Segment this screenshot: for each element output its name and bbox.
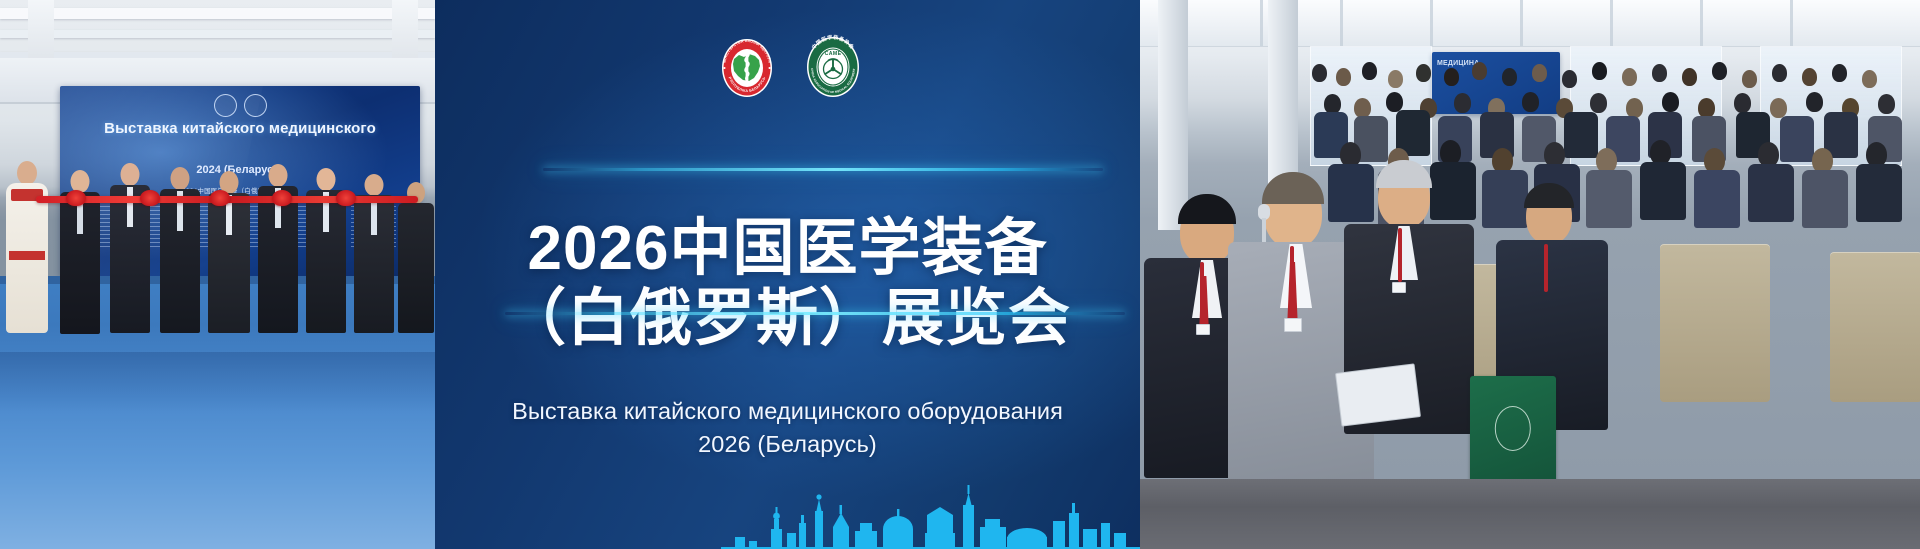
subtitle-line-2: 2026 (Беларусь): [435, 428, 1140, 461]
came-association-icon: 中国医学装备协会 CHINA ASSOCIATION OF MEDICAL EQ…: [799, 28, 867, 102]
person: [304, 160, 348, 330]
person: [352, 164, 396, 330]
person: [396, 170, 435, 330]
stage-carpet: [0, 352, 435, 412]
emblem-icon: [244, 94, 267, 117]
person: [4, 155, 50, 330]
person: [256, 158, 300, 330]
accent-glow-line-top: [543, 168, 1103, 171]
center-title-panel: МІНІСТЭРСТВА АХОВЫ ЗДАРОЎЯ РЭСПУБЛІКА БЕ…: [435, 0, 1140, 549]
accent-glow-line-bottom: [505, 312, 1125, 315]
minsk-skyline-silhouette-icon: [435, 471, 1140, 549]
auditorium-chair: [1830, 252, 1920, 402]
exhibition-banner: Выставка китайского медицинского 2024 (Б…: [0, 0, 1920, 549]
lanyard: [1398, 228, 1402, 282]
auditorium-chair: [1660, 244, 1770, 402]
lanyard: [1544, 244, 1548, 292]
page-title: 2026中国医学装备 （白俄罗斯）展览会: [435, 214, 1140, 354]
person: [158, 160, 202, 330]
belarus-ministry-of-health-icon: МІНІСТЭРСТВА АХОВЫ ЗДАРОЎЯ РЭСПУБЛІКА БЕ…: [716, 28, 778, 102]
name-badge: [1196, 324, 1210, 335]
ceiling-beam: [0, 30, 435, 38]
conference-tote-bag: [1470, 376, 1556, 484]
organizer-logos: МІНІСТЭРСТВА АХОВЫ ЗДАРОЎЯ РЭСПУБЛІКА БЕ…: [435, 28, 1140, 102]
svg-text:CAME: CAME: [825, 51, 842, 57]
handout-papers: [1335, 363, 1421, 426]
ribbon-bow: [272, 190, 292, 206]
person: [58, 162, 102, 330]
subtitle: Выставка китайского медицинского оборудо…: [435, 395, 1140, 462]
ribbon-cutting-participants: [0, 150, 435, 330]
person: [108, 158, 152, 330]
ribbon-bow: [210, 190, 230, 206]
headline-line-2: （白俄罗斯）展览会: [435, 284, 1140, 354]
subtitle-line-1: Выставка китайского медицинского оборудо…: [435, 395, 1140, 428]
ceiling-beam: [0, 8, 435, 19]
stage-screen-emblems: [60, 94, 420, 117]
ribbon-bow: [140, 190, 160, 206]
right-photo-audience: МЕДИЦИНА: [1140, 0, 1920, 549]
stage-screen-title: Выставка китайского медицинского: [68, 120, 412, 138]
headline-line-1: 2026中国医学装备: [435, 214, 1140, 284]
ribbon-bow: [336, 190, 356, 206]
audience-crowd: [1140, 38, 1920, 549]
ribbon-bow: [66, 190, 86, 206]
name-badge: [1392, 282, 1406, 293]
left-photo-ribbon-cutting: Выставка китайского медицинского 2024 (Б…: [0, 0, 435, 549]
name-badge: [1284, 318, 1302, 332]
emblem-icon: [214, 94, 237, 117]
person: [206, 162, 252, 330]
hall-floor: [1140, 479, 1920, 549]
